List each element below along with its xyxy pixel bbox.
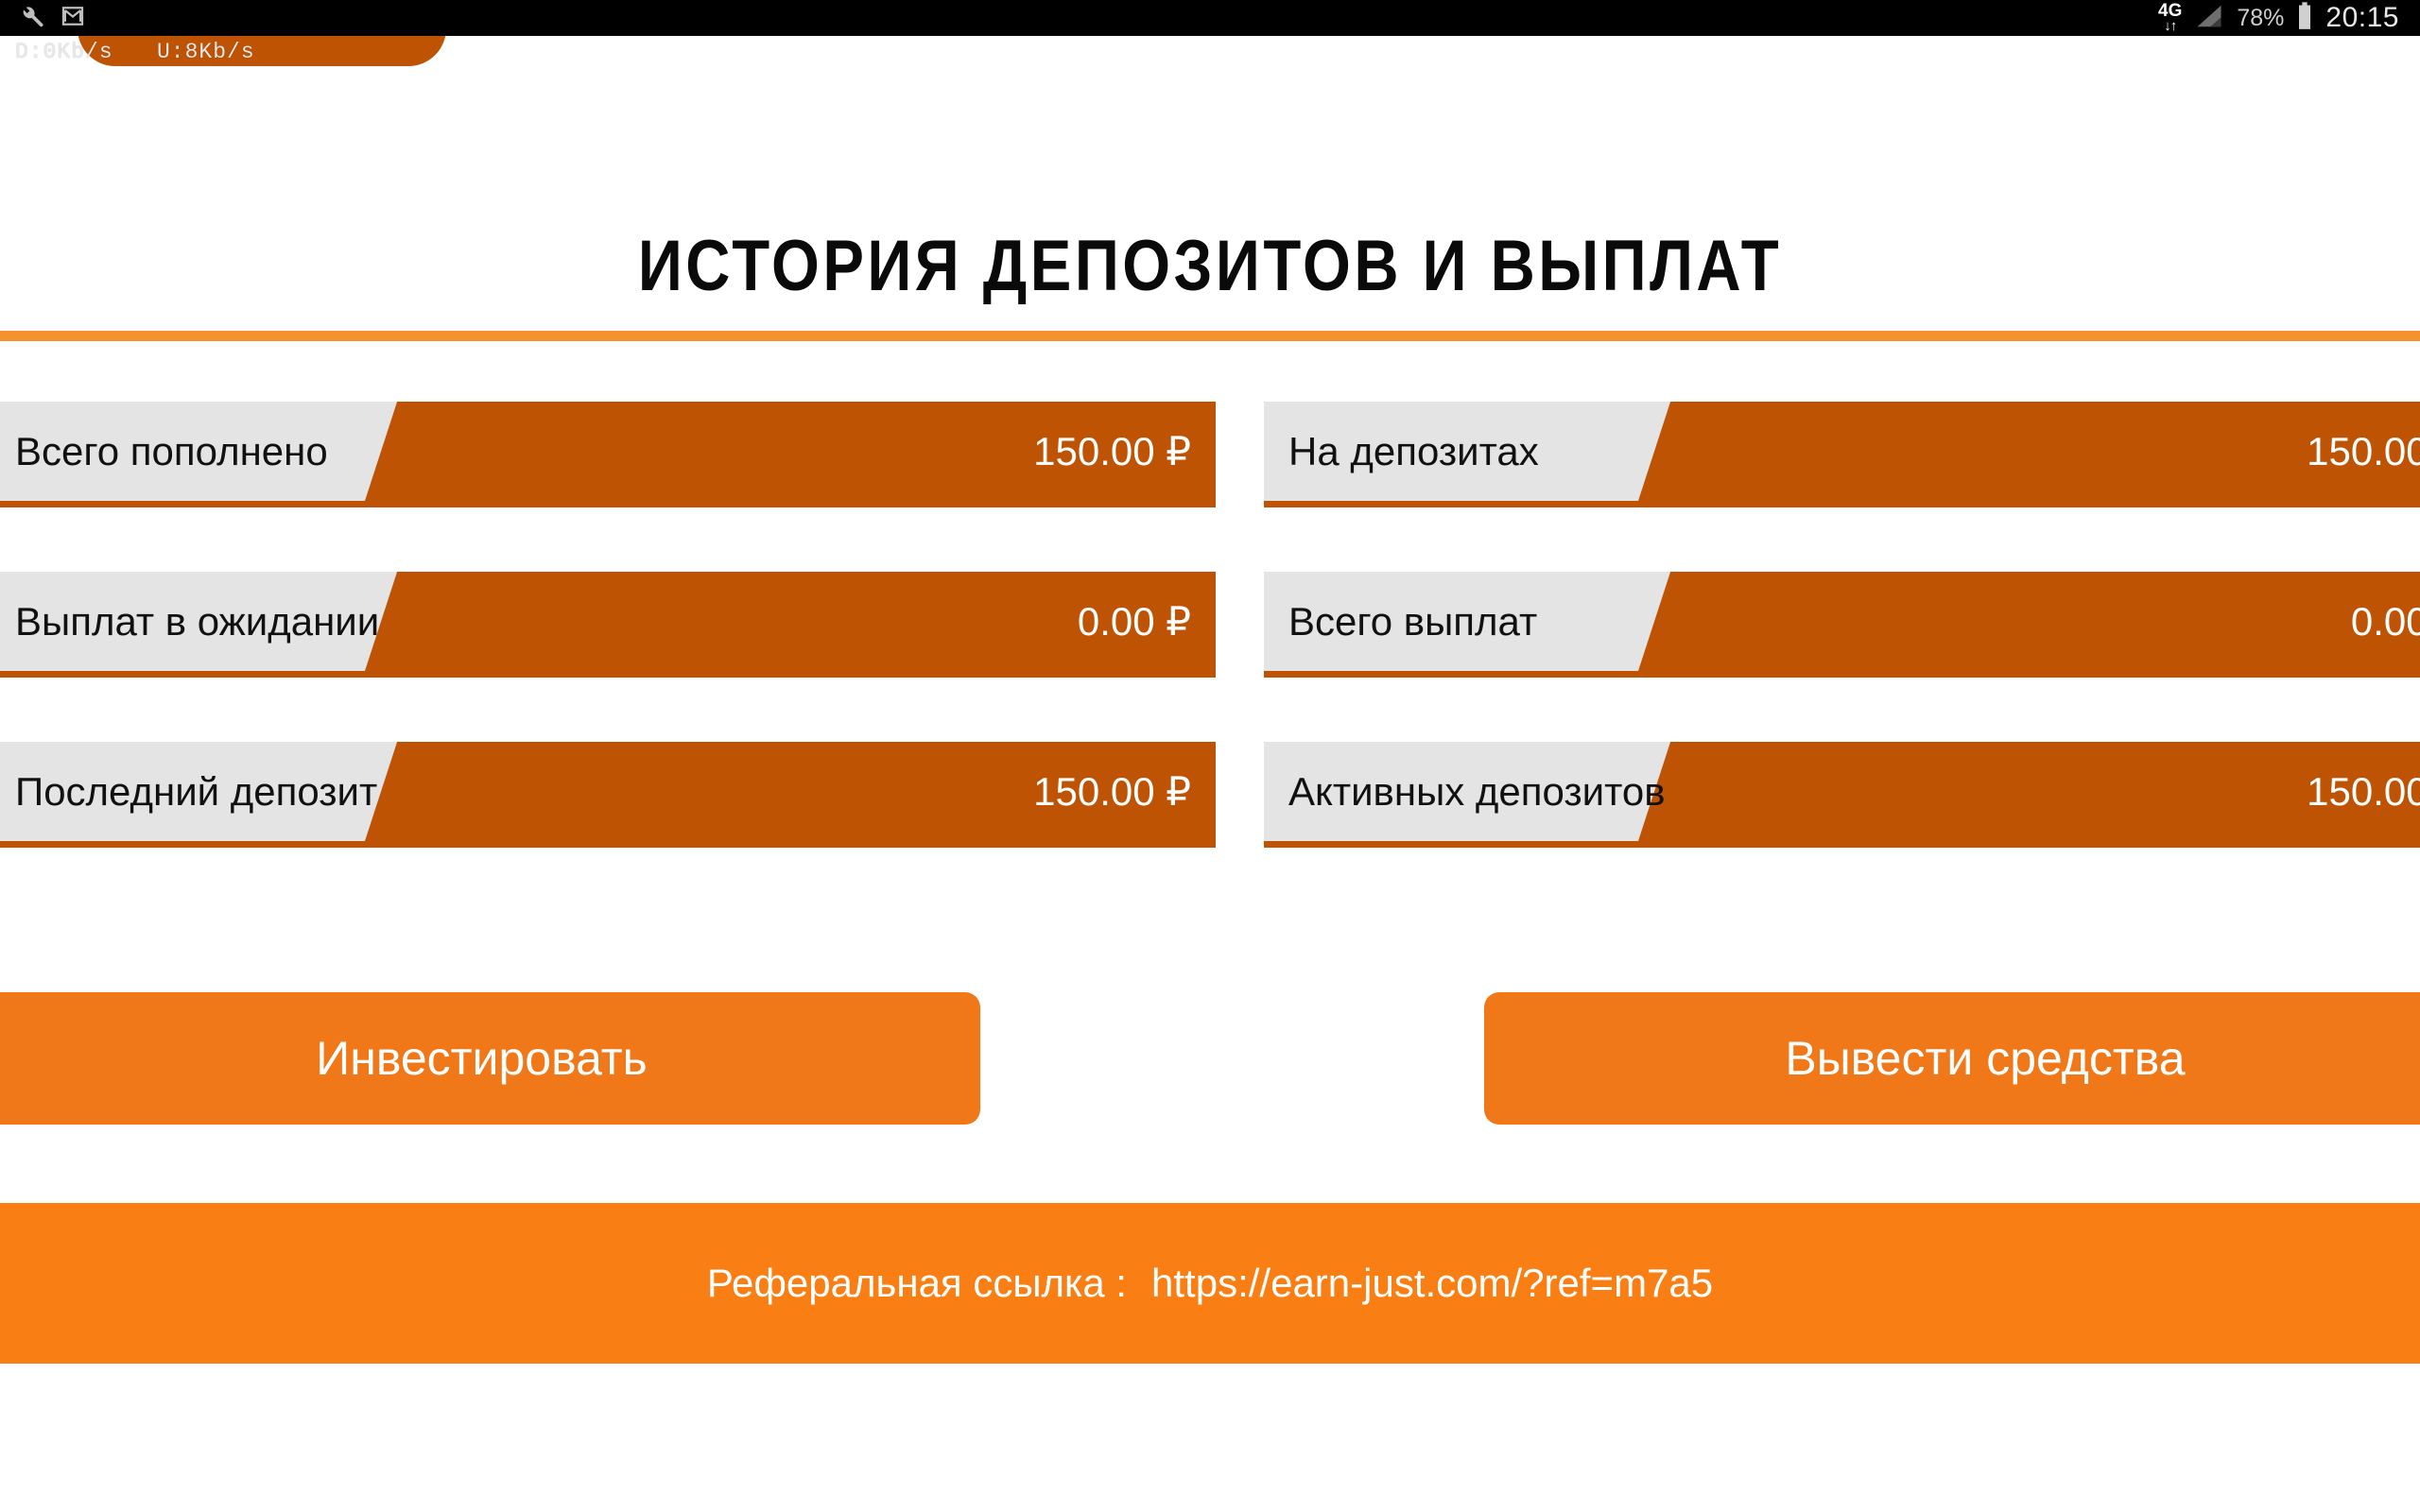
referral-link-label: Реферальная ссылка : [707,1261,1127,1306]
stat-label: На депозитах [1288,402,1539,501]
stat-row: На депозитах 150.00 ₽ [1264,402,2420,507]
stat-card-active-deposits: Активных депозитов 150.00 ₽ [1264,742,2420,848]
stat-value: 150.00 ₽ [1033,402,1191,501]
stat-label: Всего пополнено [15,402,328,501]
stat-row: Всего пополнено 150.00 ₽ [0,402,1216,507]
stat-fill [1638,742,2420,841]
data-activity-arrows-icon: ↓↑ [2158,20,2182,33]
network-type-indicator: 4G ↓↑ [2158,3,2182,33]
stat-value: 150.00 ₽ [1033,742,1191,841]
stat-label: Выплат в ожидании [15,572,379,671]
status-bar-notification-icons [0,2,2158,35]
stat-value: 150.00 ₽ [2307,402,2420,501]
stat-row: Активных депозитов 150.00 ₽ [1264,742,2420,848]
stat-label: Активных депозитов [1288,742,1666,841]
status-bar-system-icons: 4G ↓↑ 78% 20:15 [2158,1,2420,36]
withdraw-button[interactable]: Вывести средства [1484,992,2420,1125]
signal-strength-icon [2193,2,2225,35]
title-divider [0,331,2420,341]
stat-row: Последний депозит 150.00 ₽ [0,742,1216,848]
stat-label: Последний депозит [15,742,377,841]
referral-link-bar[interactable]: Реферальная ссылка : https://earn-just.c… [0,1203,2420,1364]
clock-label: 20:15 [2325,2,2399,34]
battery-icon [2295,1,2314,36]
stat-value: 0.00 ₽ [2351,572,2420,671]
stat-label: Всего выплат [1288,572,1537,671]
stat-value: 0.00 ₽ [1078,572,1191,671]
battery-percent-label: 78% [2237,5,2284,32]
stat-card-pending-payouts: Выплат в ожидании 0.00 ₽ [0,572,1216,678]
stat-value: 150.00 ₽ [2307,742,2420,841]
stat-fill [1638,402,2420,501]
stat-fill [1638,572,2420,671]
stat-card-on-deposits: На депозитах 150.00 ₽ [1264,402,2420,507]
referral-link-url[interactable]: https://earn-just.com/?ref=m7a5 [1151,1261,1713,1306]
stat-card-total-payouts: Всего выплат 0.00 ₽ [1264,572,2420,678]
gmail-icon [59,2,87,35]
stat-card-total-deposited: Всего пополнено 150.00 ₽ [0,402,1216,507]
stat-row: Всего выплат 0.00 ₽ [1264,572,2420,678]
stat-row: Выплат в ожидании 0.00 ₽ [0,572,1216,678]
android-status-bar: 4G ↓↑ 78% 20:15 [0,0,2420,36]
invest-button[interactable]: Инвестировать [0,992,980,1125]
page-title: ИСТОРИЯ ДЕПОЗИТОВ И ВЫПЛАТ [169,225,2251,307]
stat-card-last-deposit: Последний депозит 150.00 ₽ [0,742,1216,848]
wrench-icon [17,2,45,35]
